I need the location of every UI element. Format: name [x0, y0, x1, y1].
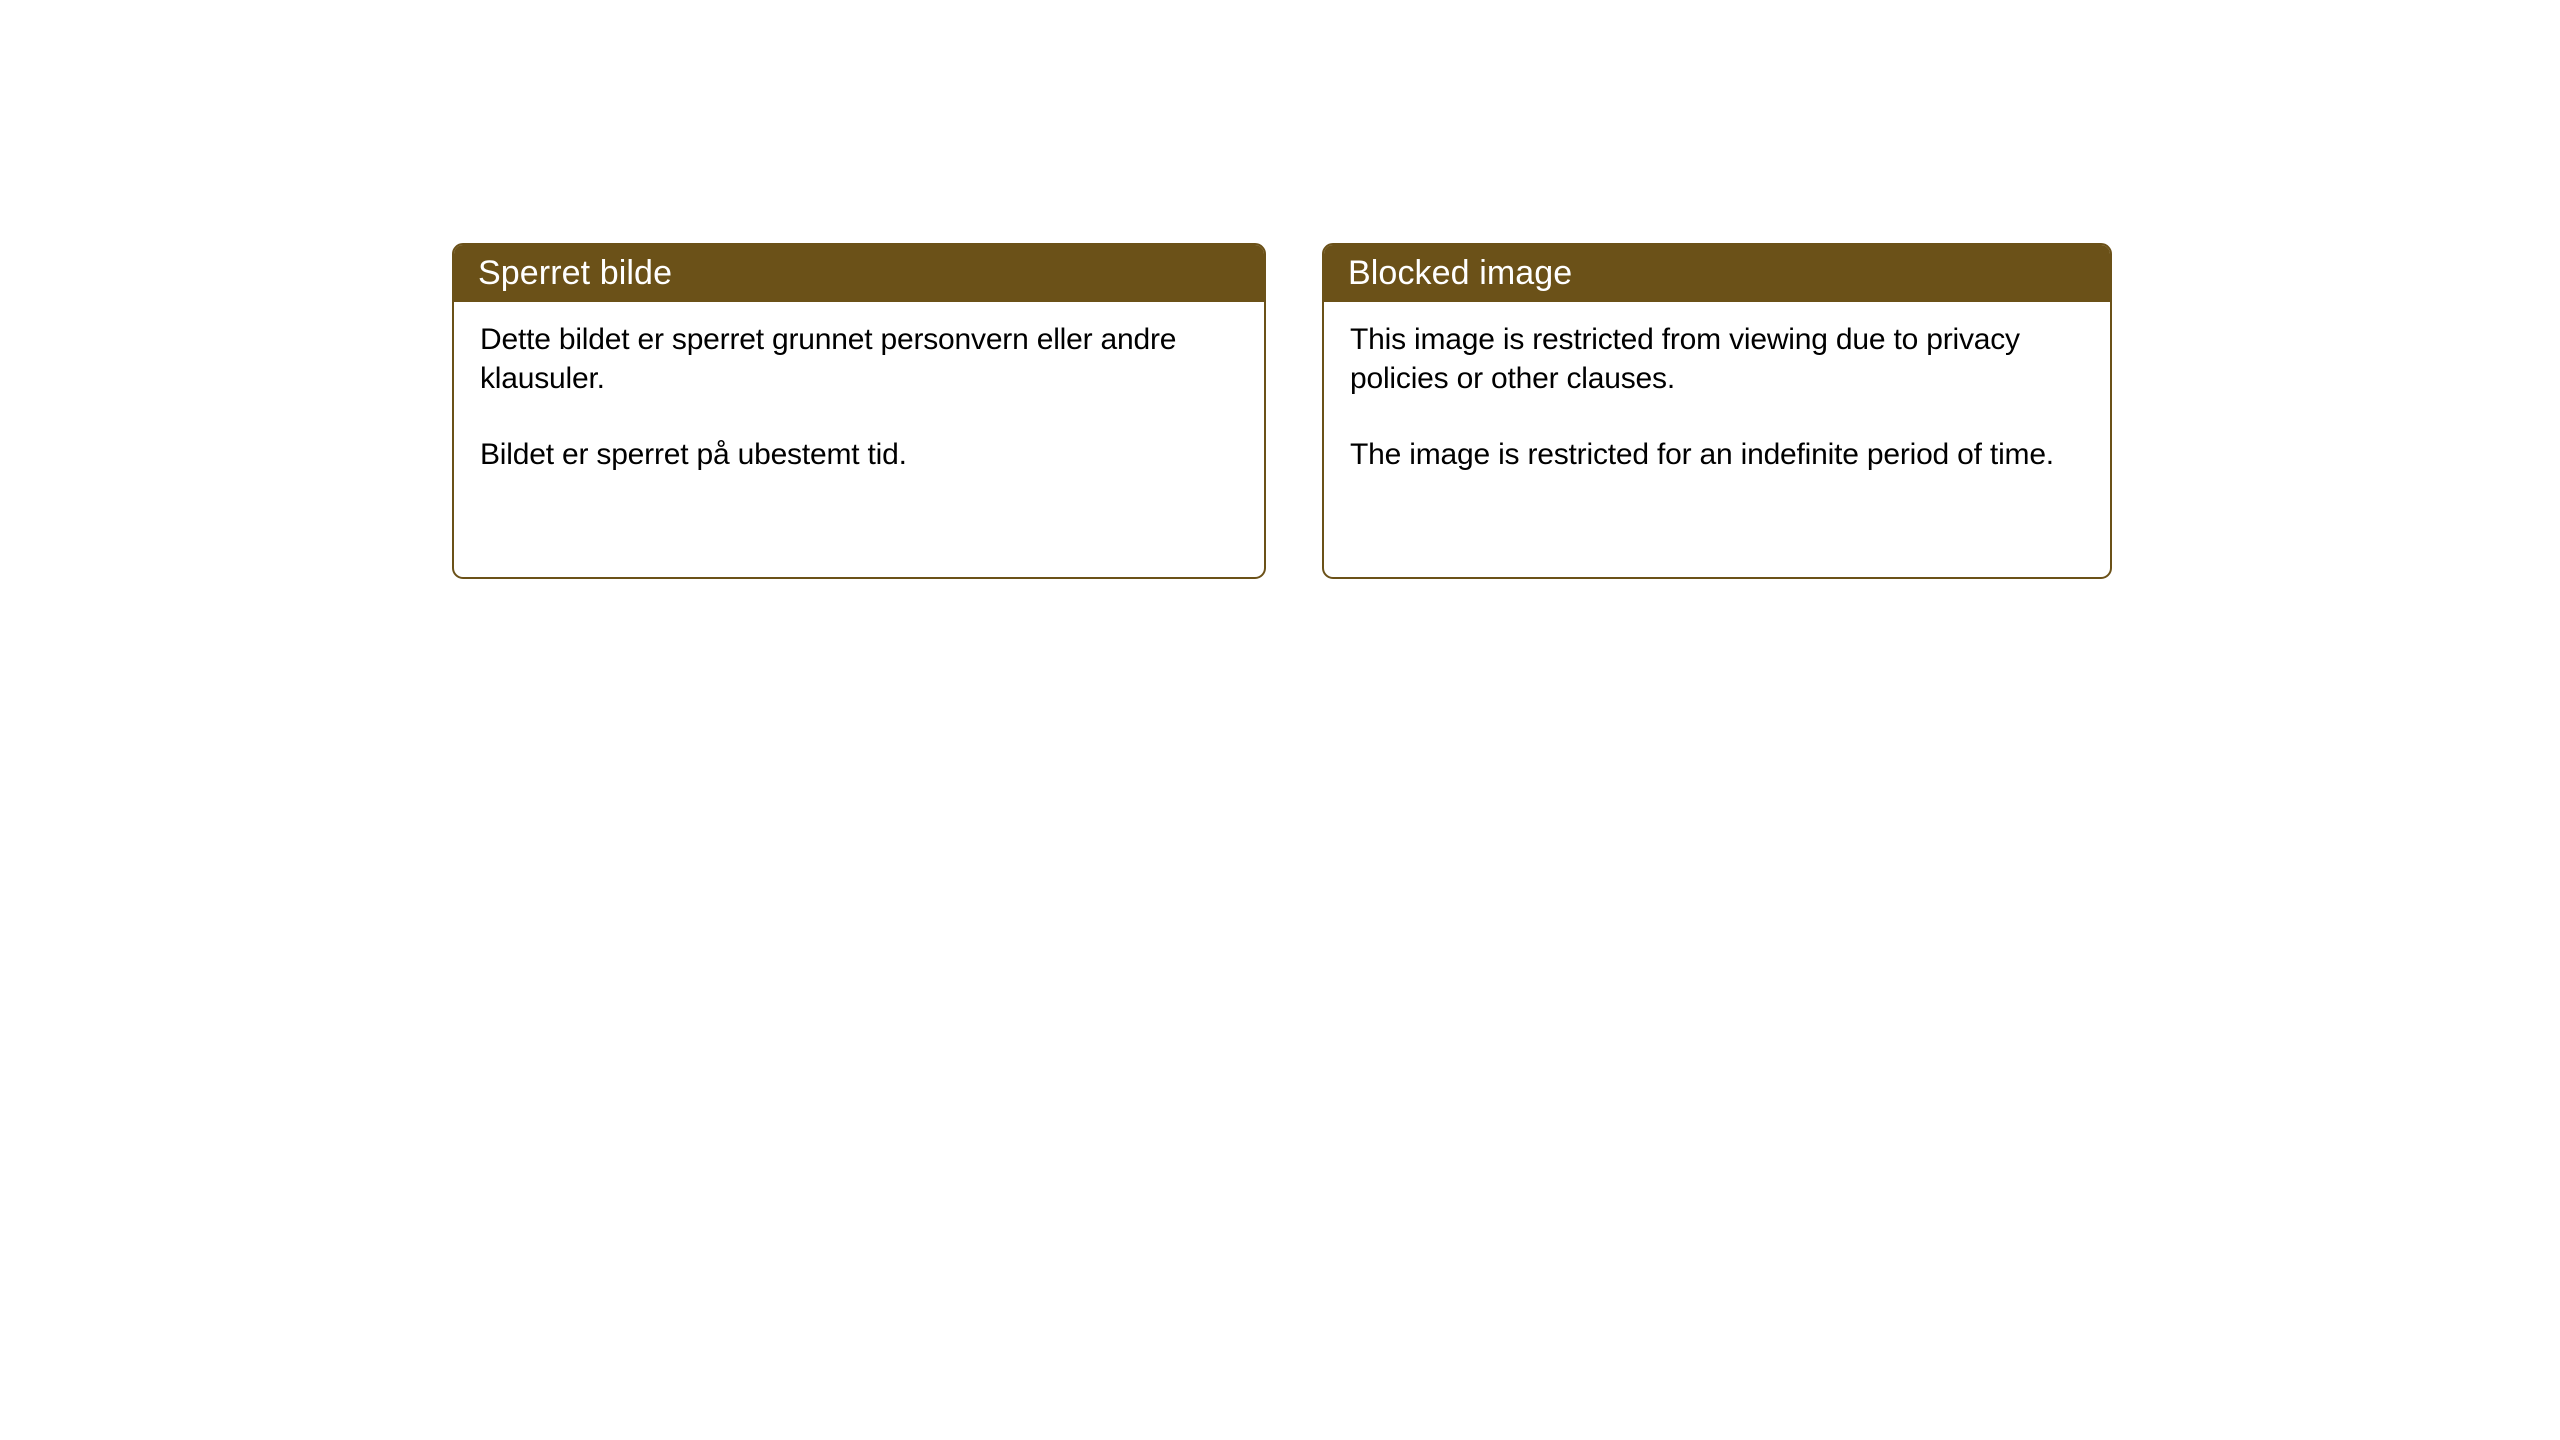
card-header-norwegian: Sperret bilde	[452, 243, 1266, 302]
card-paragraph-duration-english: The image is restricted for an indefinit…	[1350, 435, 2090, 474]
card-paragraph-privacy-norwegian: Dette bildet er sperret grunnet personve…	[480, 320, 1244, 398]
card-header-english: Blocked image	[1322, 243, 2112, 302]
card-paragraph-privacy-english: This image is restricted from viewing du…	[1350, 320, 2090, 398]
card-body-norwegian: Dette bildet er sperret grunnet personve…	[454, 302, 1264, 474]
blocked-image-notice-card-norwegian: Sperret bilde Dette bildet er sperret gr…	[452, 243, 1266, 579]
card-paragraph-duration-norwegian: Bildet er sperret på ubestemt tid.	[480, 435, 1244, 474]
card-body-english: This image is restricted from viewing du…	[1324, 302, 2110, 474]
page-canvas: Sperret bilde Dette bildet er sperret gr…	[0, 0, 2560, 1440]
blocked-image-notice-card-english: Blocked image This image is restricted f…	[1322, 243, 2112, 579]
card-title-norwegian: Sperret bilde	[478, 256, 672, 290]
card-title-english: Blocked image	[1348, 256, 1572, 290]
